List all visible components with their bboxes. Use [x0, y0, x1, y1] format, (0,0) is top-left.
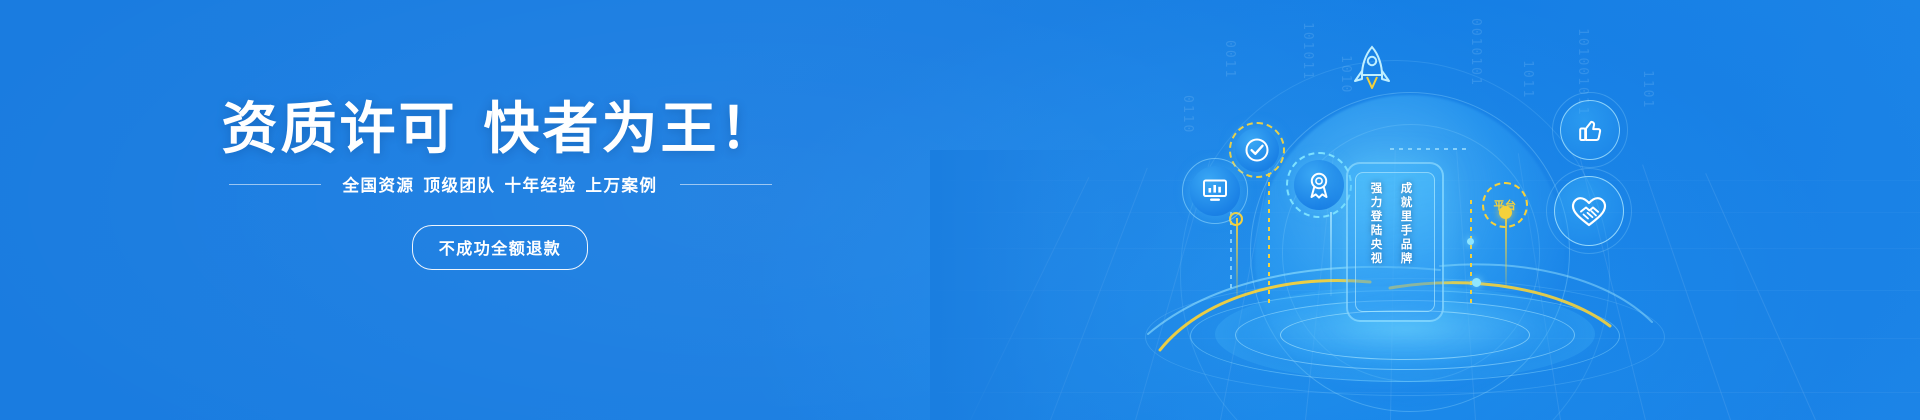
- binary-digits-8: 0110: [1180, 95, 1195, 134]
- platform-badge-label: 平台: [1494, 197, 1517, 213]
- tablet-text-line-1: 成就里手品牌: [1398, 182, 1414, 266]
- binary-digits-7: 1101: [1640, 70, 1655, 109]
- stem-yellow-left: [1236, 218, 1238, 296]
- headline-part-1: 资质许可: [222, 97, 458, 162]
- page-title: 资质许可快者为王！: [0, 102, 1000, 158]
- connector-line-right-down: [1470, 200, 1472, 308]
- stem-cyan-center: [1330, 212, 1332, 296]
- connector-line-upper-right: [1390, 148, 1470, 150]
- platform-badge[interactable]: 平台: [1487, 187, 1523, 223]
- binary-digits-5: 1011: [1520, 60, 1535, 99]
- subtitle-rule-left: [229, 184, 321, 185]
- copy-block: 资质许可快者为王！ 全国资源顶级团队十年经验上万案例 不成功全额退款: [0, 0, 1000, 420]
- subtitle-row: 全国资源顶级团队十年经验上万案例: [0, 172, 1000, 196]
- headline-part-2: 快者为王！: [484, 97, 779, 162]
- handshake-heart-icon[interactable]: [1554, 176, 1624, 246]
- binary-digits-2: 101011: [1300, 22, 1315, 81]
- connector-line-check-down: [1268, 155, 1270, 303]
- node-dot-center: [1472, 278, 1481, 287]
- monitor-chart-icon[interactable]: [1190, 166, 1240, 216]
- thumbs-up-icon[interactable]: [1560, 100, 1620, 160]
- subtitle-item-2: 十年经验: [505, 176, 577, 195]
- refund-guarantee-button[interactable]: 不成功全额退款: [412, 225, 589, 270]
- check-circle-icon[interactable]: [1235, 128, 1279, 172]
- binary-digits-1: 0011: [1222, 40, 1237, 79]
- award-medal-icon[interactable]: [1294, 160, 1344, 210]
- rocket-icon: [1352, 44, 1392, 100]
- tablet-text-line-2: 强力登陆央视: [1368, 182, 1384, 266]
- subtitle-item-3: 上万案例: [586, 176, 658, 195]
- subtitle-text: 全国资源顶级团队十年经验上万案例: [343, 172, 658, 196]
- subtitle-rule-right: [680, 184, 772, 185]
- cta-row: 不成功全额退款: [0, 225, 1000, 270]
- node-dot-platform: [1467, 238, 1474, 245]
- subtitle-item-1: 顶级团队: [424, 176, 496, 195]
- promo-banner: 0011 101011 1010 0010101 1011 101001011 …: [0, 0, 1920, 420]
- subtitle-item-0: 全国资源: [343, 176, 415, 195]
- tablet-screen: [1355, 172, 1435, 312]
